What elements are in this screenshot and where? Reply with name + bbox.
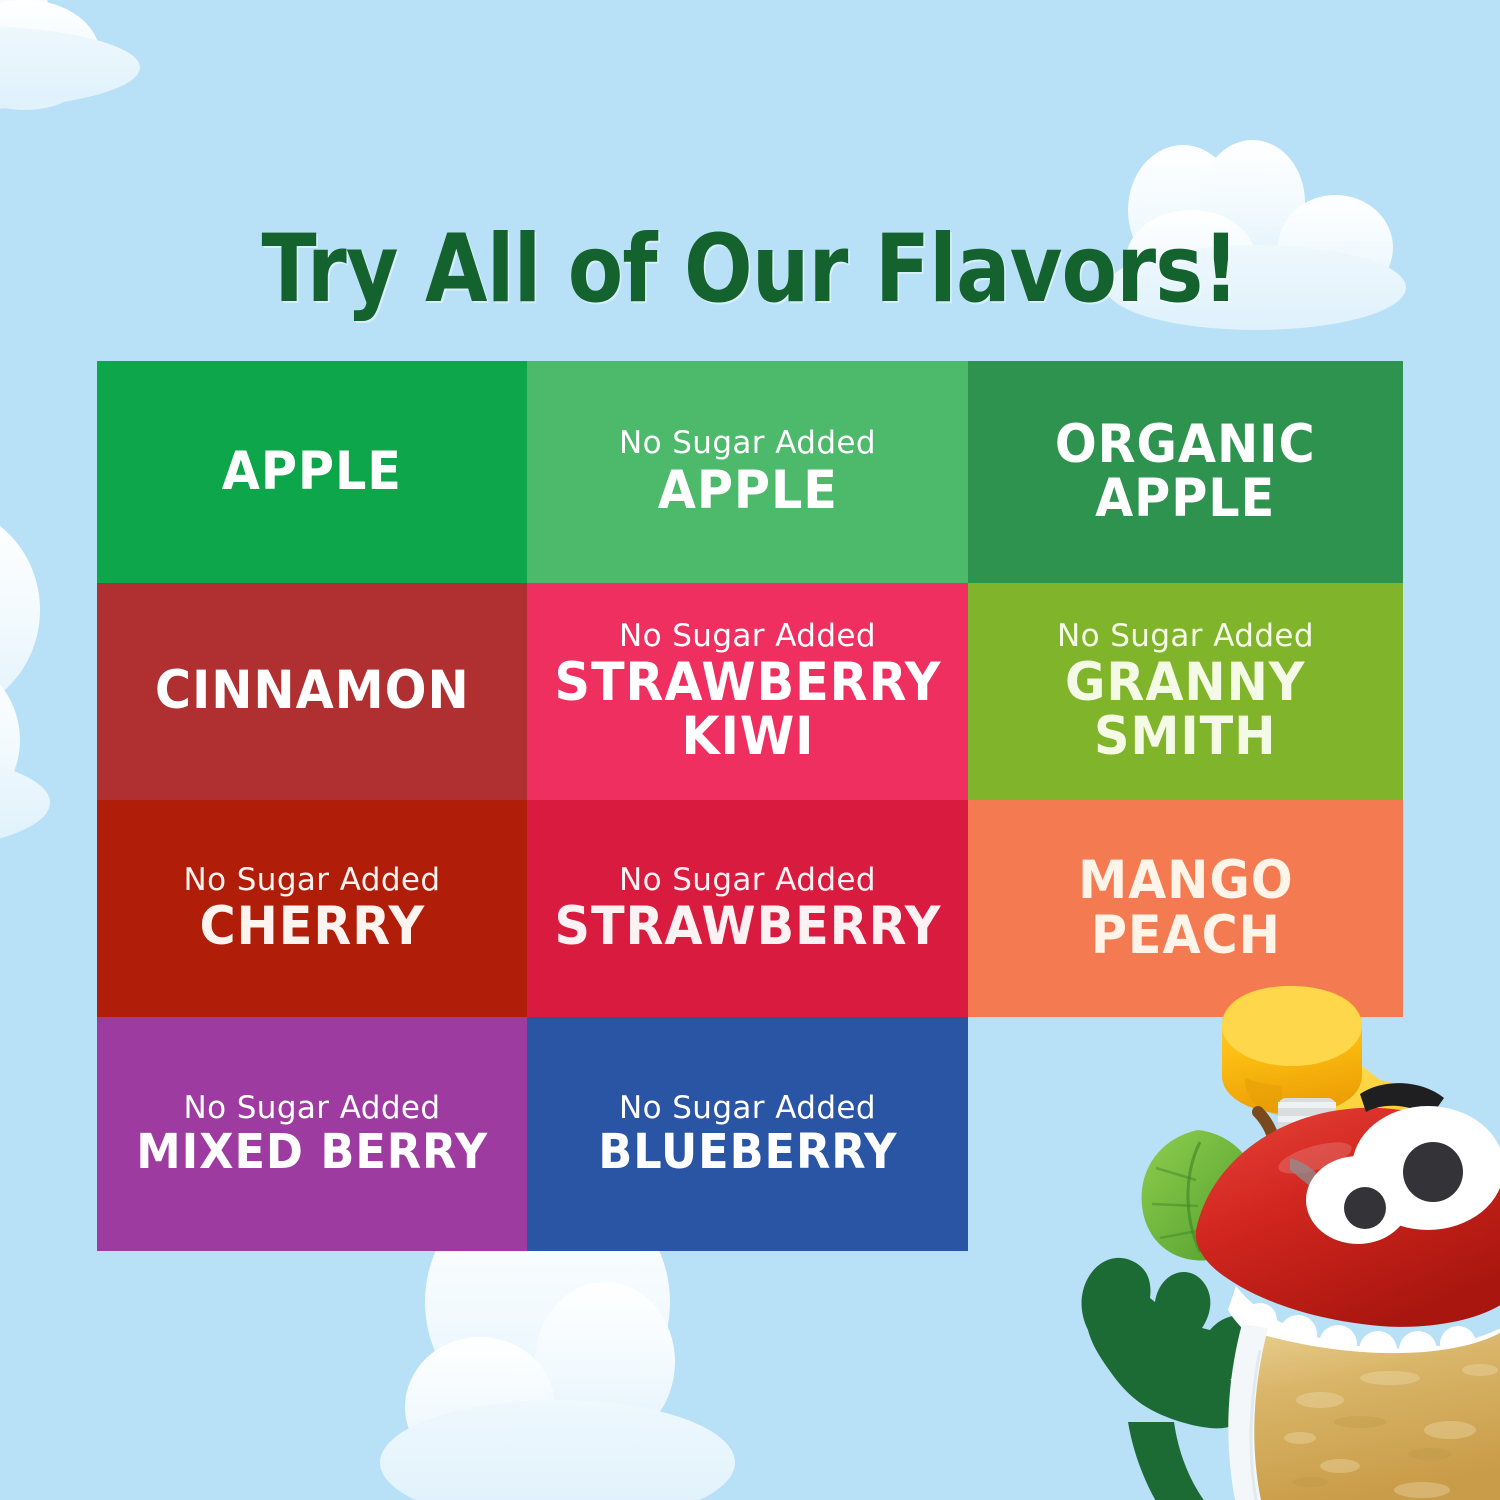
- flavor-cell-no-sugar-added-cherry[interactable]: No Sugar Added CHERRY: [97, 800, 527, 1017]
- no-sugar-added-label: No Sugar Added: [1057, 619, 1314, 654]
- pouch-body: [1251, 1330, 1500, 1500]
- flavor-name: APPLE: [657, 464, 837, 518]
- flavor-cell-no-sugar-added-blueberry[interactable]: No Sugar Added BLUEBERRY: [527, 1017, 968, 1251]
- pouch-seam: [1228, 1324, 1268, 1500]
- flavor-name: ORGANICAPPLE: [1055, 418, 1316, 526]
- flavor-name: MIXED BERRY: [136, 1128, 488, 1177]
- flavor-cell-mango-peach[interactable]: MANGOPEACH: [968, 800, 1403, 1017]
- flavor-name: APPLE: [222, 445, 402, 499]
- mascot-arm: [1082, 1258, 1358, 1500]
- flavor-cell-apple[interactable]: APPLE: [97, 361, 527, 583]
- mascot-mouth: [1228, 1286, 1500, 1382]
- flavor-cell-no-sugar-added-strawberry-kiwi[interactable]: No Sugar Added STRAWBERRYKIWI: [527, 583, 968, 800]
- flavor-lineup-poster: Try All of Our Flavors! APPLE No Sugar A…: [0, 0, 1500, 1500]
- flavor-name: CHERRY: [199, 900, 425, 954]
- flavor-grid: APPLE No Sugar Added APPLE ORGANICAPPLE …: [97, 361, 1403, 1251]
- flavor-cell-cinnamon[interactable]: CINNAMON: [97, 583, 527, 800]
- page-title: Try All of Our Flavors!: [105, 223, 1395, 317]
- cloud-bottom-center: [320, 1232, 760, 1500]
- no-sugar-added-label: No Sugar Added: [184, 1091, 441, 1126]
- flavor-name: MANGOPEACH: [1078, 854, 1293, 962]
- flavor-name: CINNAMON: [155, 664, 470, 718]
- flavor-name: BLUEBERRY: [598, 1128, 897, 1177]
- flavor-name: GRANNYSMITH: [1065, 656, 1305, 764]
- flavor-name: STRAWBERRYKIWI: [554, 656, 941, 764]
- no-sugar-added-label: No Sugar Added: [184, 863, 441, 898]
- no-sugar-added-label: No Sugar Added: [619, 1091, 876, 1126]
- flavor-name: STRAWBERRY: [554, 900, 941, 954]
- flavor-cell-no-sugar-added-mixed-berry[interactable]: No Sugar Added MIXED BERRY: [97, 1017, 527, 1251]
- flavor-cell-empty: [968, 1017, 1403, 1251]
- no-sugar-added-label: No Sugar Added: [619, 863, 876, 898]
- no-sugar-added-label: No Sugar Added: [619, 619, 876, 654]
- cloud-top-left: [0, 0, 160, 110]
- flavor-cell-no-sugar-added-strawberry[interactable]: No Sugar Added STRAWBERRY: [527, 800, 968, 1017]
- flavor-cell-organic-apple[interactable]: ORGANICAPPLE: [968, 361, 1403, 583]
- no-sugar-added-label: No Sugar Added: [619, 426, 876, 461]
- flavor-cell-no-sugar-added-granny-smith[interactable]: No Sugar Added GRANNYSMITH: [968, 583, 1403, 800]
- flavor-cell-no-sugar-added-apple[interactable]: No Sugar Added APPLE: [527, 361, 968, 583]
